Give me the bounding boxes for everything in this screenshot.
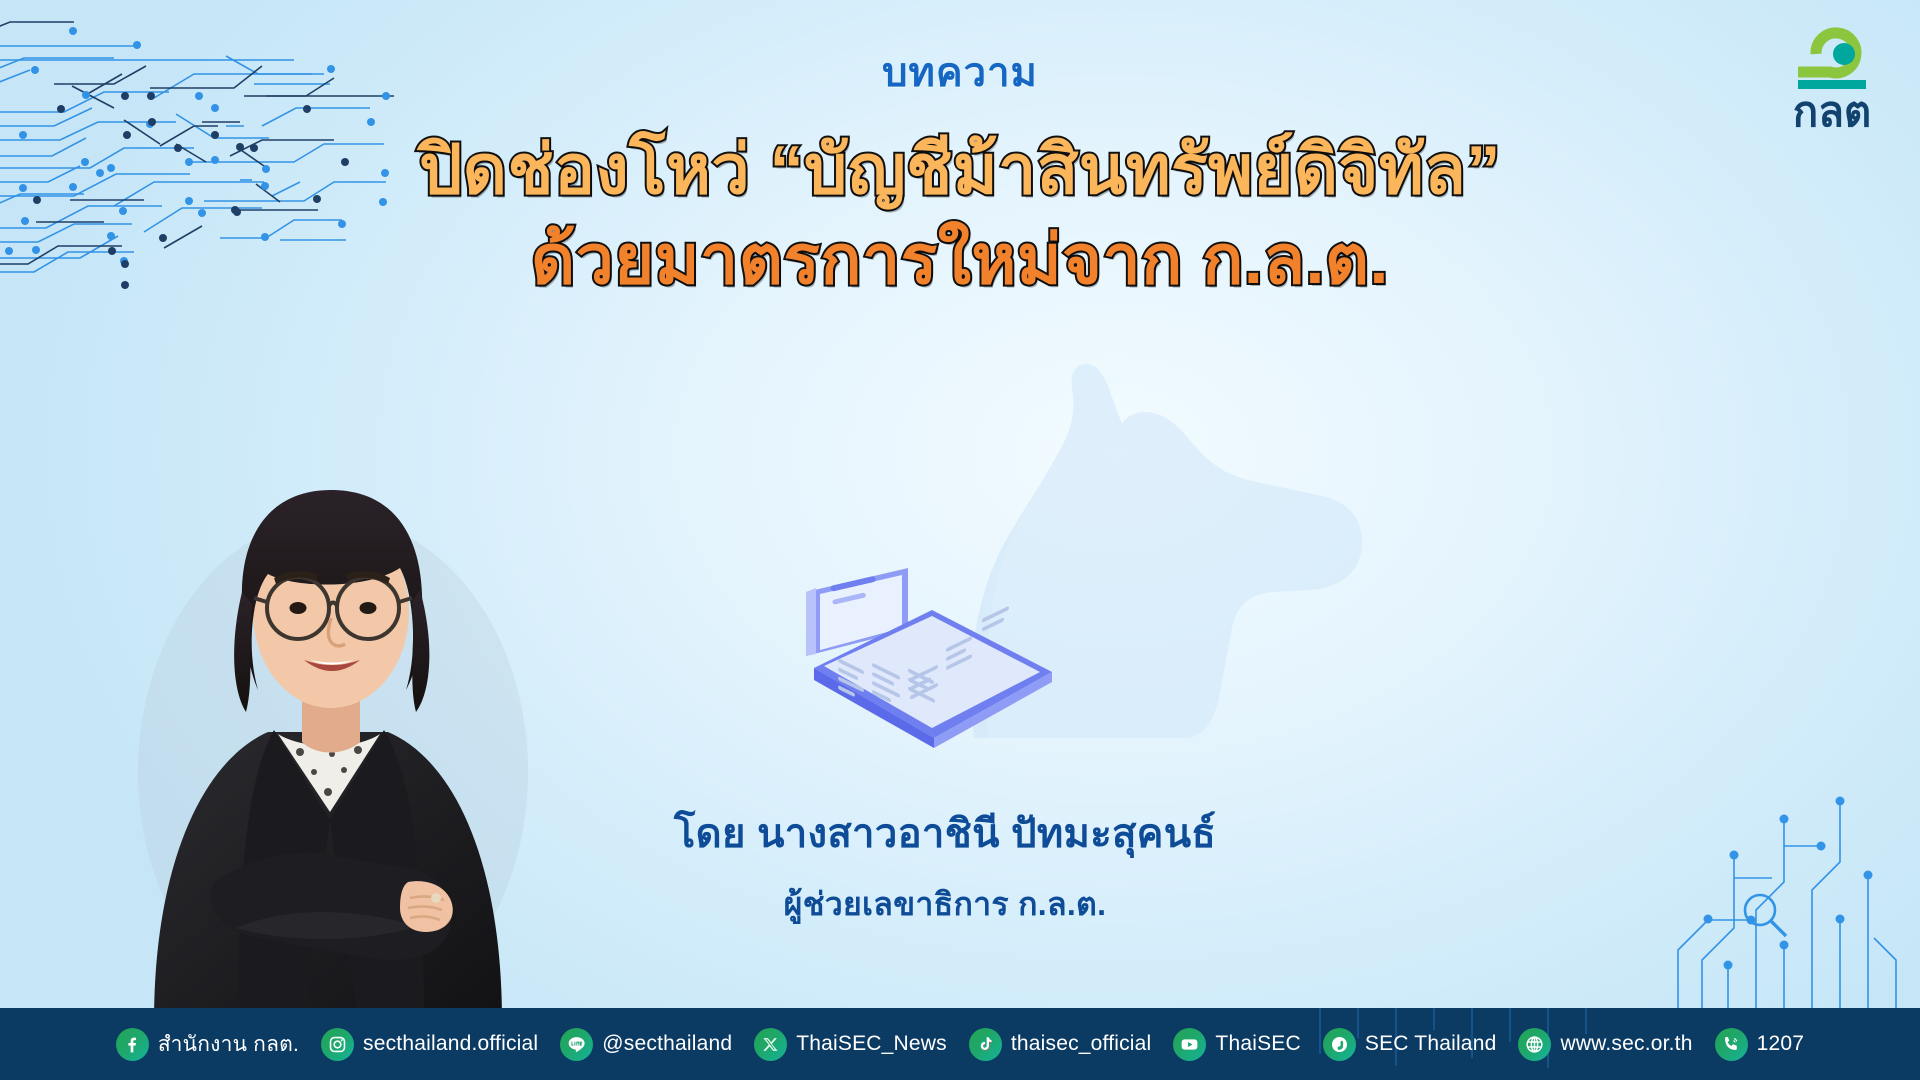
footer-item-tiktok[interactable]: thaisec_official bbox=[958, 1028, 1163, 1061]
footer-item-facebook[interactable]: สำนักงาน กลต. bbox=[105, 1028, 310, 1061]
globe-icon bbox=[1518, 1028, 1551, 1061]
footer-label-youtube: ThaiSEC bbox=[1215, 1032, 1300, 1056]
circuit-pattern-bottom-right-icon bbox=[1664, 760, 1914, 1030]
banner-canvas: บทความ ปิดช่องโหว่ “บัญชีม้าสินทรัพย์ดิจ… bbox=[0, 0, 1920, 1080]
youtube-icon bbox=[1173, 1028, 1206, 1061]
page-kicker: บทความ bbox=[0, 40, 1920, 104]
x-twitter-icon bbox=[754, 1028, 787, 1061]
byline-role: ผู้ช่วยเลขาธิการ ก.ล.ต. bbox=[300, 879, 1590, 930]
tiktok-icon bbox=[969, 1028, 1002, 1061]
facebook-icon bbox=[116, 1028, 149, 1061]
instagram-icon bbox=[321, 1028, 354, 1061]
footer-label-website: www.sec.or.th bbox=[1560, 1032, 1692, 1056]
byline: โดย นางสาวอาชินี ปัทมะสุคนธ์ ผู้ช่วยเลขา… bbox=[300, 801, 1590, 930]
footer-item-website[interactable]: www.sec.or.th bbox=[1507, 1028, 1703, 1061]
footer-label-tiktok: thaisec_official bbox=[1011, 1032, 1152, 1056]
footer-label-instagram: secthailand.official bbox=[363, 1032, 538, 1056]
title-line-1: ปิดช่องโหว่ “บัญชีม้าสินทรัพย์ดิจิทัล” bbox=[0, 130, 1920, 210]
footer-label-line: @secthailand bbox=[602, 1032, 732, 1056]
footer-item-x-twitter[interactable]: ThaiSEC_News bbox=[743, 1028, 958, 1061]
phone-icon bbox=[1715, 1028, 1748, 1061]
footer-label-facebook: สำนักงาน กลต. bbox=[158, 1028, 299, 1061]
footer-label-x-twitter: ThaiSEC_News bbox=[796, 1032, 947, 1056]
logo-wordmark: กลต bbox=[1793, 88, 1871, 132]
footer-item-phone[interactable]: 1207 bbox=[1704, 1028, 1816, 1061]
title-line-2: ด้วยมาตรการใหม่จาก ก.ล.ต. bbox=[0, 220, 1920, 300]
footer-item-line[interactable]: @secthailand bbox=[549, 1028, 743, 1061]
laptop-illustration-icon bbox=[790, 560, 1060, 790]
line-icon bbox=[560, 1028, 593, 1061]
footer-item-youtube[interactable]: ThaiSEC bbox=[1162, 1028, 1311, 1061]
page-title: ปิดช่องโหว่ “บัญชีม้าสินทรัพย์ดิจิทัล” ด… bbox=[0, 130, 1920, 300]
footer-item-instagram[interactable]: secthailand.official bbox=[310, 1028, 549, 1061]
sec-thailand-logo: กลต bbox=[1772, 24, 1892, 132]
footer-label-blockdit: SEC Thailand bbox=[1365, 1032, 1497, 1056]
footer-bar: สำนักงาน กลต. secthailand.official @sect… bbox=[0, 1008, 1920, 1080]
blockdit-icon bbox=[1323, 1028, 1356, 1061]
byline-author: โดย นางสาวอาชินี ปัทมะสุคนธ์ bbox=[300, 801, 1590, 865]
footer-label-phone: 1207 bbox=[1757, 1032, 1805, 1056]
footer-item-blockdit[interactable]: SEC Thailand bbox=[1312, 1028, 1508, 1061]
